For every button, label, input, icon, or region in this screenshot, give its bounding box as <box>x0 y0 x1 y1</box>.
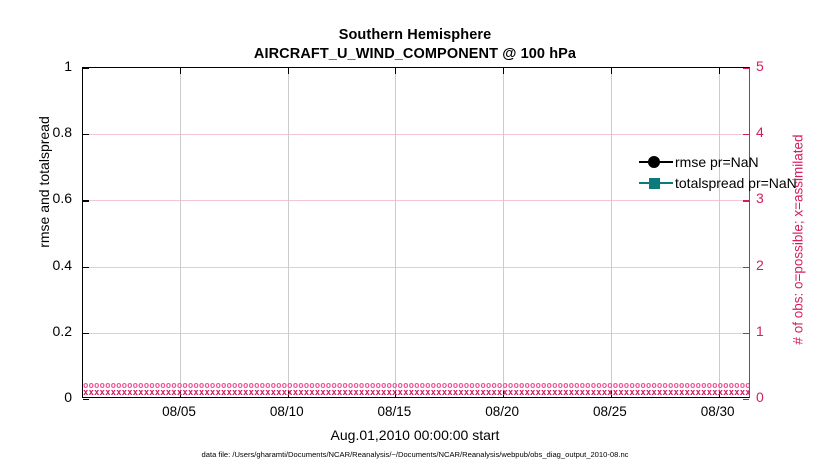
gridline-horizontal <box>83 267 749 268</box>
gridline-vertical <box>180 68 181 397</box>
tick-mark-bottom <box>180 391 181 397</box>
tick-mark-right <box>743 399 749 400</box>
y-tick-label-left: 0.2 <box>12 323 72 339</box>
tick-mark-bottom <box>288 391 289 397</box>
tick-mark-bottom <box>611 391 612 397</box>
y-axis-title-left: rmse and totalspread <box>36 42 52 322</box>
obs-possible-row: oooooooooooooooooooooooooooooooooooooooo… <box>83 382 749 390</box>
tick-mark-left <box>83 333 89 334</box>
data-file-caption: data file: /Users/gharamti/Documents/NCA… <box>0 450 830 459</box>
legend-label-rmse: rmse pr=NaN <box>675 154 759 170</box>
x-tick-label: 08/25 <box>570 404 650 419</box>
tick-mark-top <box>288 68 289 74</box>
x-tick-label: 08/20 <box>462 404 542 419</box>
obs-assimilated-row: xxxxxxxxxxxxxxxxxxxxxxxxxxxxxxxxxxxxxxxx… <box>83 389 749 397</box>
tick-mark-left <box>83 200 89 201</box>
chart-title: Southern Hemisphere <box>0 26 830 45</box>
gridline-vertical <box>288 68 289 397</box>
tick-mark-bottom <box>395 391 396 397</box>
tick-mark-right <box>743 68 749 69</box>
x-tick-label: 08/05 <box>139 404 219 419</box>
tick-mark-right <box>743 134 749 135</box>
tick-mark-left <box>83 267 89 268</box>
gridline-vertical <box>503 68 504 397</box>
observation-marker-band: oooooooooooooooooooooooooooooooooooooooo… <box>83 381 749 397</box>
tick-mark-top <box>611 68 612 74</box>
y-tick-label-left: 0 <box>12 389 72 405</box>
tick-mark-top <box>180 68 181 74</box>
circle-marker-icon <box>639 155 673 169</box>
gridline-horizontal <box>83 200 749 201</box>
tick-mark-bottom <box>503 391 504 397</box>
tick-mark-bottom <box>719 391 720 397</box>
tick-mark-top <box>395 68 396 74</box>
tick-mark-left <box>83 134 89 135</box>
tick-mark-right <box>743 267 749 268</box>
tick-mark-top <box>719 68 720 74</box>
gridline-vertical <box>395 68 396 397</box>
tick-mark-right <box>743 200 749 201</box>
chart-subtitle: AIRCRAFT_U_WIND_COMPONENT @ 100 hPa <box>0 45 830 64</box>
square-marker-icon <box>639 176 673 190</box>
gridline-horizontal <box>83 134 749 135</box>
tick-mark-top <box>503 68 504 74</box>
y-axis-title-right: # of obs: o=possible; x=assimilated <box>791 60 806 420</box>
x-tick-label: 08/15 <box>354 404 434 419</box>
x-tick-label: 08/10 <box>247 404 327 419</box>
plot-area: oooooooooooooooooooooooooooooooooooooooo… <box>82 67 750 398</box>
tick-mark-left <box>83 399 89 400</box>
tick-mark-left <box>83 68 89 69</box>
tick-mark-right <box>743 333 749 334</box>
legend-label-totalspread: totalspread pr=NaN <box>675 175 797 191</box>
gridline-horizontal <box>83 333 749 334</box>
gridline-vertical <box>611 68 612 397</box>
gridline-vertical <box>719 68 720 397</box>
chart-title-block: Southern Hemisphere AIRCRAFT_U_WIND_COMP… <box>0 26 830 63</box>
x-tick-label: 08/30 <box>678 404 758 419</box>
x-axis-title: Aug.01,2010 00:00:00 start <box>0 427 830 443</box>
